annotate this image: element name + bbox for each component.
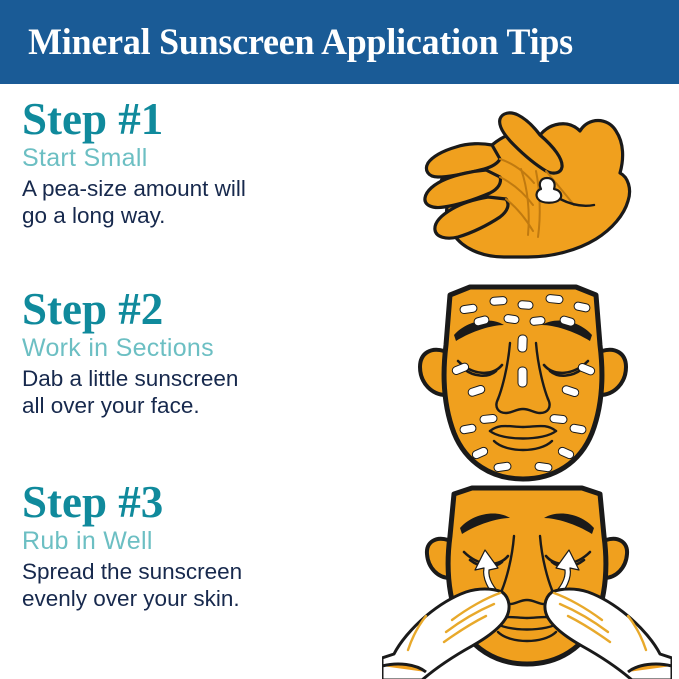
- face-with-dabs-illustration: [398, 273, 648, 493]
- open-hand-illustration: [388, 97, 658, 277]
- step-2-body-line-1: Dab a little sunscreen: [22, 365, 352, 392]
- step-3-body: Spread the sunscreen evenly over your sk…: [22, 558, 352, 612]
- step-1-subtitle: Start Small: [22, 143, 352, 173]
- step-2-body-line-2: all over your face.: [22, 392, 352, 419]
- page-title: Mineral Sunscreen Application Tips: [0, 21, 573, 64]
- infographic-poster: Mineral Sunscreen Application Tips Step …: [0, 0, 679, 679]
- step-1-body-line-1: A pea-size amount will: [22, 175, 352, 202]
- step-3-subtitle: Rub in Well: [22, 526, 352, 556]
- step-1-text-block: Step #1 Start Small A pea-size amount wi…: [22, 95, 352, 229]
- step-1-heading: Step #1: [22, 95, 352, 143]
- step-2-body: Dab a little sunscreen all over your fac…: [22, 365, 352, 419]
- step-2-heading: Step #2: [22, 285, 352, 333]
- step-3-heading: Step #3: [22, 478, 352, 526]
- face-rubbing-illustration: [382, 480, 672, 679]
- step-row-3: Step #3 Rub in Well Spread the sunscreen…: [0, 478, 679, 676]
- step-3-body-line-1: Spread the sunscreen: [22, 558, 352, 585]
- step-2-text-block: Step #2 Work in Sections Dab a little su…: [22, 285, 352, 419]
- step-row-1: Step #1 Start Small A pea-size amount wi…: [0, 95, 679, 293]
- step-1-body: A pea-size amount will go a long way.: [22, 175, 352, 229]
- header-banner: Mineral Sunscreen Application Tips: [0, 0, 679, 84]
- step-3-text-block: Step #3 Rub in Well Spread the sunscreen…: [22, 478, 352, 612]
- step-2-subtitle: Work in Sections: [22, 333, 352, 363]
- step-3-body-line-2: evenly over your skin.: [22, 585, 352, 612]
- step-row-2: Step #2 Work in Sections Dab a little su…: [0, 285, 679, 483]
- step-1-body-line-2: go a long way.: [22, 202, 352, 229]
